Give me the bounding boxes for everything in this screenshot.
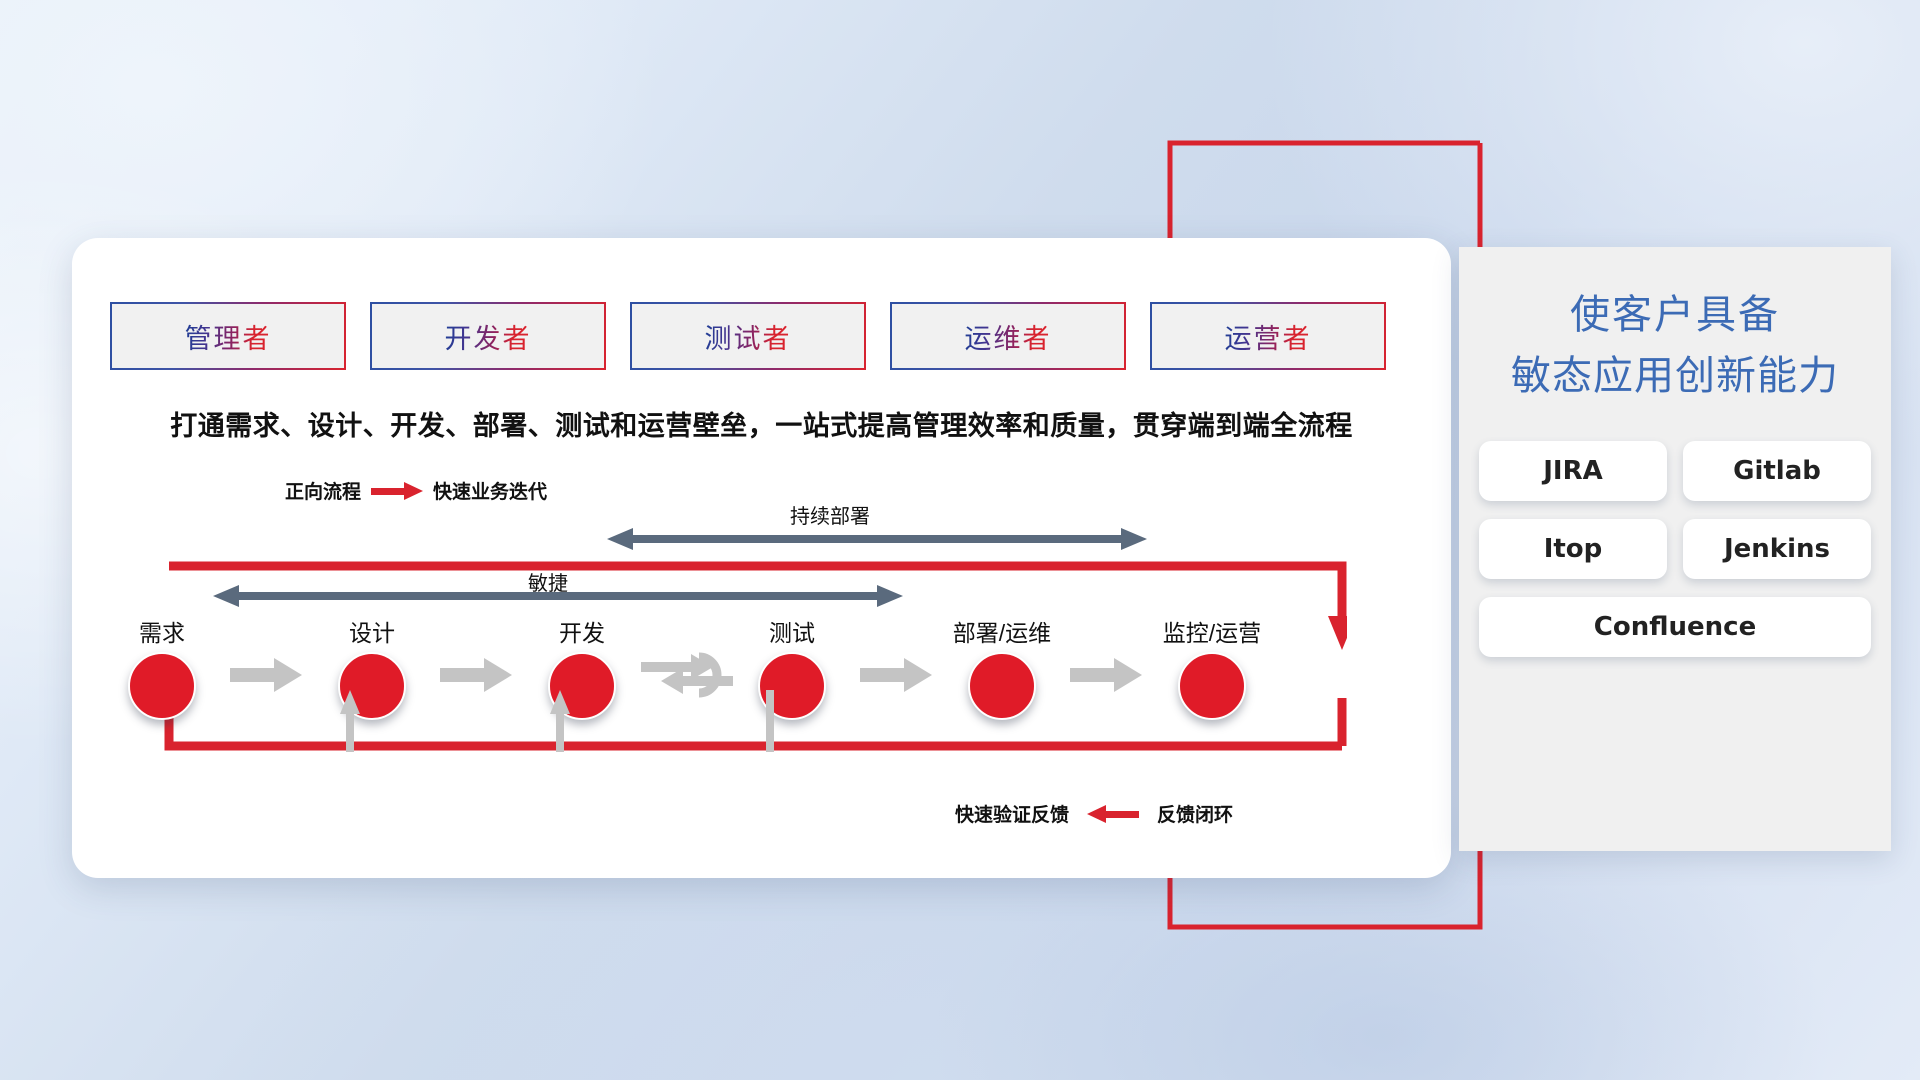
node-label: 部署/运维 (952, 614, 1052, 648)
flow-arrow-icon (440, 658, 512, 692)
node-dot (128, 652, 196, 720)
legend-feedback-left-label: 快速验证反馈 (955, 800, 1069, 827)
role-label: 开发者 (445, 317, 532, 356)
tool-badge-jira[interactable]: JIRA (1479, 441, 1667, 501)
span-arrow-continuous-deployment (607, 528, 1147, 550)
flow-arrow-icon (1070, 658, 1142, 692)
pipeline-node-requirements[interactable]: 需求 (112, 614, 212, 720)
feedback-up-line-testing (760, 690, 780, 752)
feedback-up-arrow-development (550, 690, 570, 752)
legend-feedback-right-label: 反馈闭环 (1157, 800, 1233, 827)
side-panel: 使客户具备 敏态应用创新能力 JIRA Gitlab Itop Jenkins … (1459, 247, 1891, 851)
role-box-manager[interactable]: 管理者 (112, 304, 344, 368)
node-label: 设计 (322, 614, 422, 648)
headline-text: 打通需求、设计、开发、部署、测试和运营壁垒，一站式提高管理效率和质量，贯穿端到端… (72, 404, 1451, 443)
pipeline-node-monitor-operations[interactable]: 监控/运营 (1162, 614, 1262, 720)
tool-badge-gitlab[interactable]: Gitlab (1683, 441, 1871, 501)
tool-badge-itop[interactable]: Itop (1479, 519, 1667, 579)
legend-forward-left-label: 正向流程 (285, 477, 361, 504)
role-label: 测试者 (705, 317, 792, 356)
node-dot (1178, 652, 1246, 720)
tool-badge-list: JIRA Gitlab Itop Jenkins Confluence (1479, 441, 1871, 657)
node-label: 监控/运营 (1162, 614, 1262, 648)
arrow-right-icon (371, 482, 423, 500)
node-dot (968, 652, 1036, 720)
role-box-operations[interactable]: 运营者 (1152, 304, 1384, 368)
role-box-developer[interactable]: 开发者 (372, 304, 604, 368)
flow-arrow-icon (230, 658, 302, 692)
node-label: 开发 (532, 614, 632, 648)
tool-badge-jenkins[interactable]: Jenkins (1683, 519, 1871, 579)
span-label-continuous-deployment: 持续部署 (790, 500, 870, 529)
role-label: 运营者 (1225, 317, 1312, 356)
role-box-ops[interactable]: 运维者 (892, 304, 1124, 368)
ci-loop-arrow-icon (639, 650, 735, 702)
node-label: 测试 (742, 614, 842, 648)
role-box-tester[interactable]: 测试者 (632, 304, 864, 368)
pipeline-node-design[interactable]: 设计 (322, 614, 422, 720)
pipeline-node-deploy-ops[interactable]: 部署/运维 (952, 614, 1052, 720)
node-label: 需求 (112, 614, 212, 648)
role-label: 运维者 (965, 317, 1052, 356)
feedback-up-arrow-design (340, 690, 360, 752)
pipeline-node-development[interactable]: 开发 (532, 614, 632, 720)
role-label: 管理者 (185, 317, 272, 356)
side-panel-title-line1: 使客户具备 (1459, 285, 1891, 346)
role-box-row: 管理者 开发者 测试者 运维者 运营者 (112, 304, 1384, 368)
tool-badge-confluence[interactable]: Confluence (1479, 597, 1871, 657)
side-panel-title: 使客户具备 敏态应用创新能力 (1459, 285, 1891, 407)
flow-arrow-icon (860, 658, 932, 692)
legend-forward-right-label: 快速业务迭代 (433, 477, 547, 504)
arrow-left-icon (1087, 805, 1139, 823)
legend-feedback-loop: 快速验证反馈 反馈闭环 (955, 800, 1233, 827)
legend-forward-flow: 正向流程 快速业务迭代 (285, 477, 547, 504)
pipeline-node-testing[interactable]: 测试 (742, 614, 842, 720)
side-panel-title-line2: 敏态应用创新能力 (1459, 346, 1891, 407)
